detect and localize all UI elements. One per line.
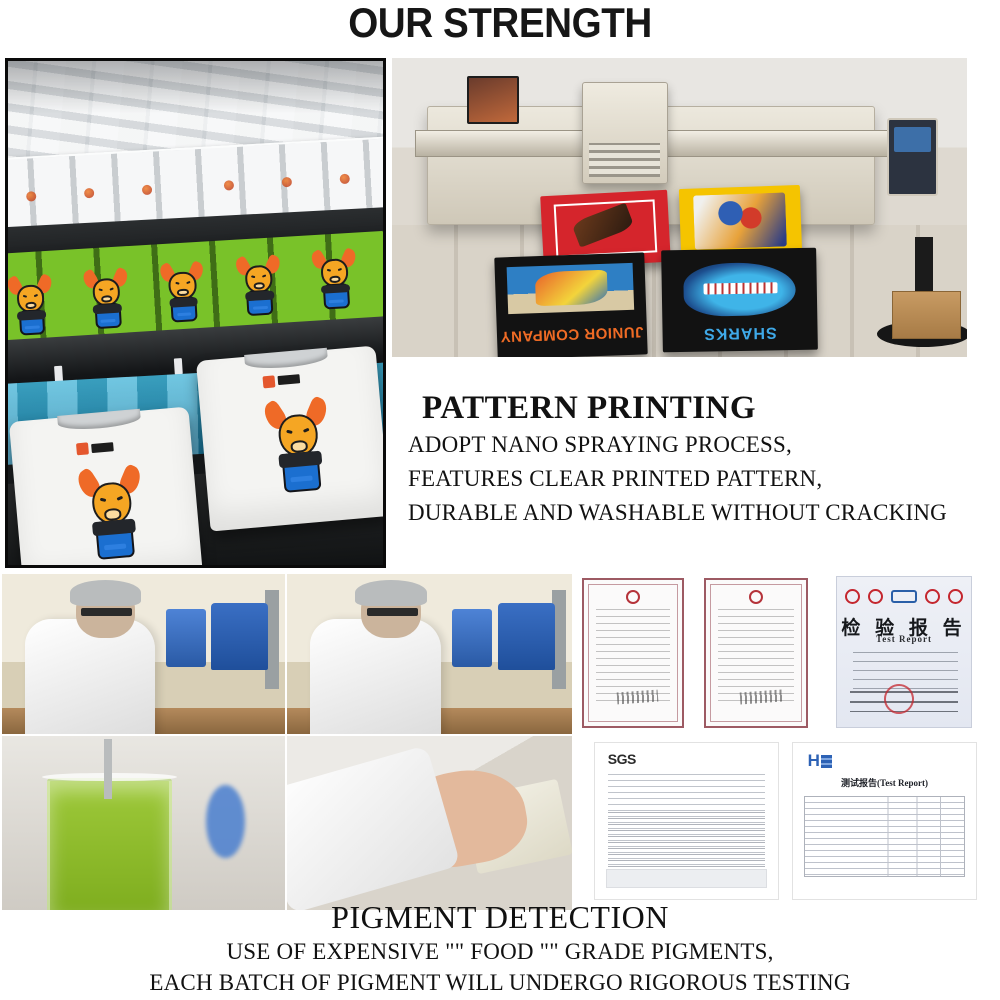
carousel-scene [8, 61, 383, 565]
printed-garment-sharks: SHARKS [661, 248, 818, 352]
garment-art-label: JUNIOR COMPANY [505, 316, 638, 353]
document-inspection-test-report: 检 验 报 告 Test Report [836, 576, 972, 728]
bull-mascot-icon [314, 247, 356, 312]
cal-badge-icon [948, 589, 963, 604]
cqc-badge-icon [845, 589, 860, 604]
photo-fabric-inspection-hand [287, 736, 572, 910]
document-h-test-report: H 测试报告(Test Report) [792, 742, 977, 900]
photo-screen-print-carousel [5, 58, 386, 568]
pigment-detection-text-block: PIGMENT DETECTION USE OF EXPENSIVE "" FO… [0, 898, 1000, 998]
photo-lab-grid [2, 574, 572, 910]
printed-garment-junior-company: JUNIOR COMPANY [494, 253, 647, 357]
printed-garment-yellow [678, 184, 801, 257]
bull-mascot-icon [10, 273, 52, 338]
documents-grid: 检 验 报 告 Test Report SGS H 测试报告(Test Repo… [578, 574, 998, 910]
pattern-printing-line-2: FEATURES CLEAR PRINTED PATTERN, [392, 462, 992, 496]
report-title-en: Test Report [837, 634, 971, 644]
cnas-badge-icon [891, 590, 917, 603]
pattern-printing-line-1: ADOPT NANO SPRAYING PROCESS, [392, 428, 992, 462]
certificate-seal-icon [749, 590, 763, 604]
bull-mascot-icon [238, 254, 280, 319]
page-title: OUR STRENGTH [40, 0, 960, 45]
pattern-printing-line-3: DURABLE AND WASHABLE WITHOUT CRACKING [392, 496, 992, 530]
document-sgs-test-report: SGS [594, 742, 779, 900]
bull-mascot-icon [86, 267, 128, 332]
bull-mascot-icon [268, 395, 330, 495]
certificate-iso-english [704, 578, 808, 728]
photo-dtg-printer: JUNIOR COMPANY SHARKS [392, 58, 967, 357]
bull-mascot-icon [81, 463, 143, 563]
foreground-tshirt [196, 346, 383, 532]
pigment-detection-line-1: USE OF EXPENSIVE "" FOOD "" GRADE PIGMEN… [0, 936, 1000, 967]
h-report-title: 测试报告(Test Report) [793, 776, 976, 789]
printer-room: JUNIOR COMPANY SHARKS [392, 58, 967, 357]
printer-control-panel [887, 118, 939, 196]
pattern-printing-heading: PATTERN PRINTING [392, 388, 992, 428]
garment-art-label: SHARKS [672, 318, 809, 347]
cma-badge-icon [925, 589, 940, 604]
photo-scientist-right [287, 574, 572, 734]
sgs-logo: SGS [608, 751, 636, 767]
pigment-detection-heading: PIGMENT DETECTION [0, 898, 1000, 936]
print-head-carriage [582, 82, 668, 184]
foreground-tshirt [8, 406, 202, 565]
certification-badge-row [845, 588, 963, 606]
photo-scientist-left [2, 574, 285, 734]
photo-green-pigment-beaker [2, 736, 285, 910]
certificate-seal-icon [626, 590, 640, 604]
promo-banner: OUR STRENGTH [0, 0, 1000, 1000]
ccc-badge-icon [868, 589, 883, 604]
printer-display-screen [467, 76, 519, 124]
cardboard-box [892, 291, 961, 339]
h-report-results-table [804, 796, 965, 877]
h-logo: H [808, 751, 832, 771]
pattern-printing-text-block: PATTERN PRINTING ADOPT NANO SPRAYING PRO… [392, 388, 992, 558]
pigment-detection-line-2: EACH BATCH OF PIGMENT WILL UNDERGO RIGOR… [0, 967, 1000, 998]
bull-mascot-icon [162, 260, 204, 325]
certificate-iso-chinese [582, 578, 684, 728]
